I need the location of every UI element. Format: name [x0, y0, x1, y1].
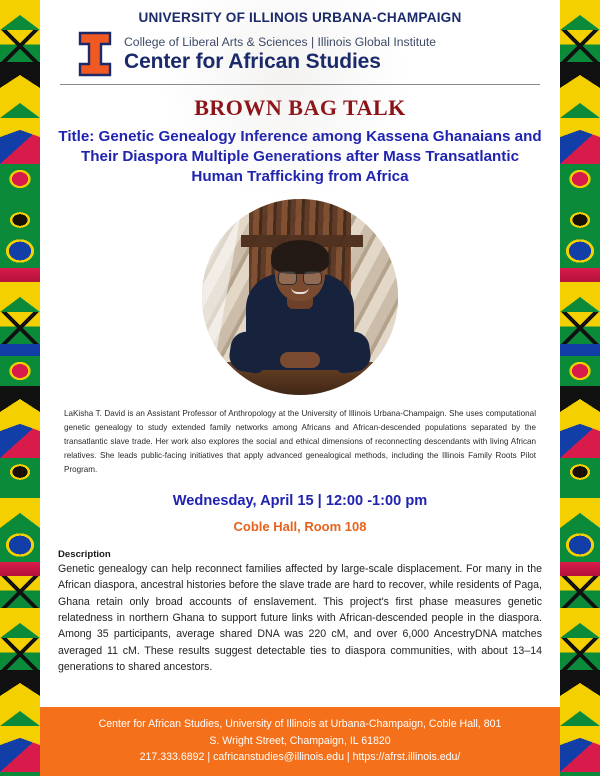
kente-motif [0, 62, 40, 88]
kente-motif [0, 608, 40, 638]
footer-address-line1: Center for African Studies, University o… [99, 718, 502, 732]
kente-motif [560, 386, 600, 412]
kente-motif [560, 118, 600, 128]
kente-motif [0, 772, 40, 776]
kente-motif [560, 696, 600, 726]
kente-motif [560, 234, 600, 268]
description-body: Genetic genealogy can help reconnect fam… [58, 561, 542, 676]
description-block: Description Genetic genealogy can help r… [58, 549, 542, 676]
kente-motif [0, 344, 40, 356]
kente-motif [560, 30, 600, 62]
kente-motif [560, 312, 600, 344]
kente-motif [0, 736, 40, 772]
flyer-footer: Center for African Studies, University o… [40, 707, 560, 776]
kente-motif [560, 194, 600, 206]
kente-motif [0, 422, 40, 458]
kente-motif [560, 458, 600, 486]
kente-motif [560, 164, 600, 194]
brand-text: College of Liberal Arts & Sciences | Ill… [124, 35, 436, 74]
kente-motif [560, 268, 600, 282]
kente-border-left [0, 0, 40, 776]
kente-motif [0, 118, 40, 128]
college-name: College of Liberal Arts & Sciences | Ill… [124, 35, 436, 49]
kente-motif [0, 498, 40, 528]
kente-motif [0, 206, 40, 234]
footer-address-line2: S. Wright Street, Champaign, IL 61820 [209, 735, 390, 749]
kente-motif [0, 194, 40, 206]
kente-motif [0, 576, 40, 608]
kente-motif [560, 356, 600, 386]
photo-glasses [278, 271, 322, 283]
kente-motif [560, 498, 600, 528]
kente-motif [560, 128, 600, 164]
kente-motif [0, 234, 40, 268]
kente-motif [560, 670, 600, 696]
footer-contact-line[interactable]: 217.333.6892 | cafricanstudies@illinois.… [140, 751, 461, 765]
kente-motif [0, 638, 40, 670]
brand-lockup: College of Liberal Arts & Sciences | Ill… [54, 31, 546, 77]
illinois-block-i-icon [76, 31, 114, 77]
event-datetime: Wednesday, April 15 | 12:00 -1:00 pm [40, 493, 560, 509]
speaker-photo-wrap [40, 199, 560, 395]
kente-motif [560, 528, 600, 562]
kente-motif [560, 88, 600, 118]
kente-motif [0, 312, 40, 344]
kente-motif [560, 344, 600, 356]
kente-motif [0, 486, 40, 498]
kente-motif [0, 386, 40, 412]
kente-motif [0, 282, 40, 312]
event-flyer: UNIVERSITY OF ILLINOIS URBANA-CHAMPAIGN … [0, 0, 600, 776]
kente-motif [0, 458, 40, 486]
kente-motif [0, 726, 40, 736]
kente-motif [0, 0, 40, 30]
university-name: UNIVERSITY OF ILLINOIS URBANA-CHAMPAIGN [54, 10, 546, 25]
flyer-content: UNIVERSITY OF ILLINOIS URBANA-CHAMPAIGN … [40, 0, 560, 776]
kente-motif [0, 356, 40, 386]
kente-motif [560, 62, 600, 88]
kente-motif [560, 282, 600, 312]
kente-motif [560, 608, 600, 638]
speaker-bio: LaKisha T. David is an Assistant Profess… [64, 407, 536, 477]
kente-motif [0, 412, 40, 422]
kente-motif [560, 422, 600, 458]
description-heading: Description [58, 549, 542, 560]
kente-motif [560, 736, 600, 772]
kente-motif [0, 268, 40, 282]
kente-motif [560, 0, 600, 30]
kente-motif [560, 412, 600, 422]
event-title: Title: Genetic Genealogy Inference among… [56, 127, 544, 187]
kente-motif [560, 486, 600, 498]
center-name: Center for African Studies [124, 50, 436, 74]
event-kicker: BROWN BAG TALK [40, 95, 560, 121]
flyer-header: UNIVERSITY OF ILLINOIS URBANA-CHAMPAIGN … [40, 0, 560, 85]
kente-motif [560, 576, 600, 608]
kente-motif [0, 528, 40, 562]
kente-motif [0, 696, 40, 726]
speaker-photo [202, 199, 398, 395]
kente-motif [0, 30, 40, 62]
kente-motif [0, 562, 40, 576]
kente-motif [0, 164, 40, 194]
photo-hands [280, 352, 320, 368]
event-location: Coble Hall, Room 108 [40, 519, 560, 534]
kente-motif [0, 670, 40, 696]
header-divider [60, 84, 540, 85]
kente-motif [0, 88, 40, 118]
kente-motif [560, 638, 600, 670]
photo-hair [271, 240, 329, 274]
kente-motif [560, 206, 600, 234]
kente-motif [560, 772, 600, 776]
kente-motif [0, 128, 40, 164]
kente-border-right [560, 0, 600, 776]
kente-motif [560, 726, 600, 736]
kente-motif [560, 562, 600, 576]
